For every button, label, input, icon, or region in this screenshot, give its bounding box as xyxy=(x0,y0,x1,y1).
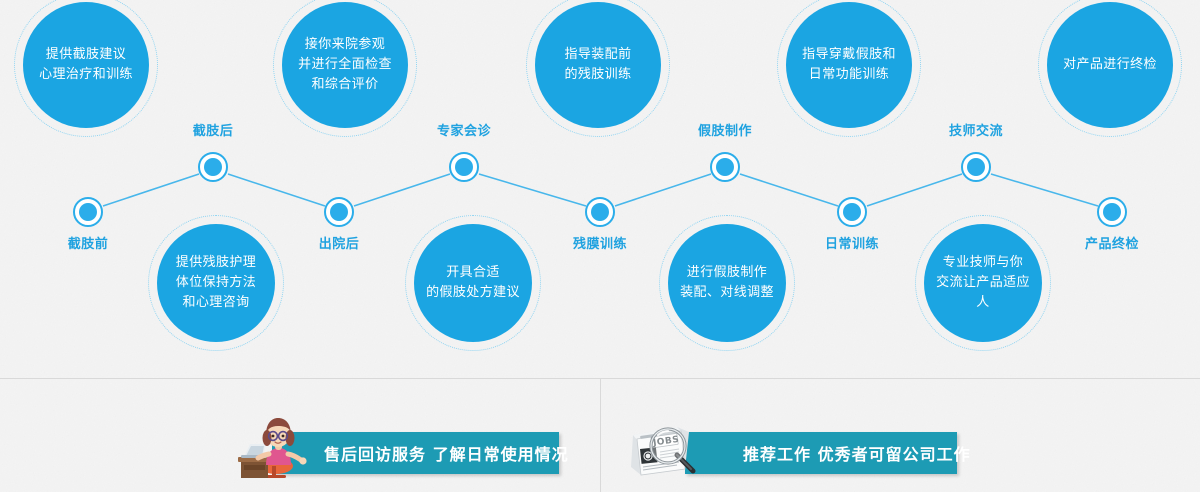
banner-bar[interactable]: 推荐工作 优秀者可留公司工作 xyxy=(685,432,957,474)
bubble-text: 对产品进行终检 xyxy=(1057,55,1163,75)
bubble-text: 指导装配前 的残肢训练 xyxy=(558,45,637,85)
banner-after-sales[interactable]: 售后回访服务 了解日常使用情况 xyxy=(236,413,566,483)
timeline-node-post-amputation[interactable] xyxy=(198,152,228,182)
bubble-text: 专业技师与你 交流让产品适应人 xyxy=(924,253,1042,313)
banner-label: 推荐工作 优秀者可留公司工作 xyxy=(743,441,971,465)
info-bubble-stump-care[interactable]: 提供残肢护理 体位保持方法 和心理咨询 xyxy=(148,215,284,351)
timeline-node-daily-training[interactable] xyxy=(837,197,867,227)
banner-job-recommendation[interactable]: 推荐工作 优秀者可留公司工作 JOBS xyxy=(627,413,967,483)
node-label-daily-training: 日常训练 xyxy=(812,233,892,252)
banner-bar[interactable]: 售后回访服务 了解日常使用情况 xyxy=(272,432,559,474)
newspaper-magnifier-illustration: JOBS xyxy=(627,417,717,483)
node-label-technician-exchange: 技师交流 xyxy=(936,120,1016,139)
timeline-node-prosthesis-making[interactable] xyxy=(710,152,740,182)
timeline-node-post-discharge[interactable] xyxy=(324,197,354,227)
node-label-post-discharge: 出院后 xyxy=(309,233,369,252)
node-label-post-amputation: 截肢后 xyxy=(183,120,243,139)
bubble-text: 进行假肢制作 装配、对线调整 xyxy=(674,263,780,303)
vertical-divider xyxy=(600,378,601,492)
node-label-pre-amputation: 截肢前 xyxy=(58,233,118,252)
bubble-text: 提供残肢护理 体位保持方法 和心理咨询 xyxy=(170,253,262,313)
info-bubble-technician-talk[interactable]: 专业技师与你 交流让产品适应人 xyxy=(915,215,1051,351)
info-bubble-prescription[interactable]: 开具合适 的假肢处方建议 xyxy=(405,215,541,351)
timeline-node-technician-exchange[interactable] xyxy=(961,152,991,182)
timeline-node-expert-consultation[interactable] xyxy=(449,152,479,182)
timeline-node-pre-amputation[interactable] xyxy=(73,197,103,227)
banner-label: 售后回访服务 了解日常使用情况 xyxy=(324,441,569,465)
info-bubble-pre-fitting-training[interactable]: 指导装配前 的残肢训练 xyxy=(526,0,670,137)
woman-at-desk-illustration xyxy=(236,413,310,481)
info-bubble-final-check[interactable]: 对产品进行终检 xyxy=(1038,0,1182,137)
bubble-text: 接你来院参观 并进行全面检查 和综合评价 xyxy=(292,35,398,95)
timeline-node-stump-training[interactable] xyxy=(585,197,615,227)
info-bubble-wear-guidance[interactable]: 指导穿戴假肢和 日常功能训练 xyxy=(777,0,921,137)
node-label-final-inspection: 产品终检 xyxy=(1072,233,1152,252)
bubble-text: 指导穿戴假肢和 日常功能训练 xyxy=(796,45,902,85)
node-label-stump-training: 残膜训练 xyxy=(560,233,640,252)
bubble-text: 开具合适 的假肢处方建议 xyxy=(420,263,526,303)
flow-diagram: 提供截肢建议 心理治疗和训练 接你来院参观 并进行全面检查 和综合评价 指导装配… xyxy=(0,0,1200,492)
node-label-expert-consultation: 专家会诊 xyxy=(424,120,504,139)
bubble-text: 提供截肢建议 心理治疗和训练 xyxy=(33,45,139,85)
info-bubble-amputation-advice[interactable]: 提供截肢建议 心理治疗和训练 xyxy=(14,0,158,137)
timeline-node-final-inspection[interactable] xyxy=(1097,197,1127,227)
info-bubble-manufacture[interactable]: 进行假肢制作 装配、对线调整 xyxy=(659,215,795,351)
info-bubble-hospital-visit[interactable]: 接你来院参观 并进行全面检查 和综合评价 xyxy=(273,0,417,137)
node-label-prosthesis-making: 假肢制作 xyxy=(685,120,765,139)
